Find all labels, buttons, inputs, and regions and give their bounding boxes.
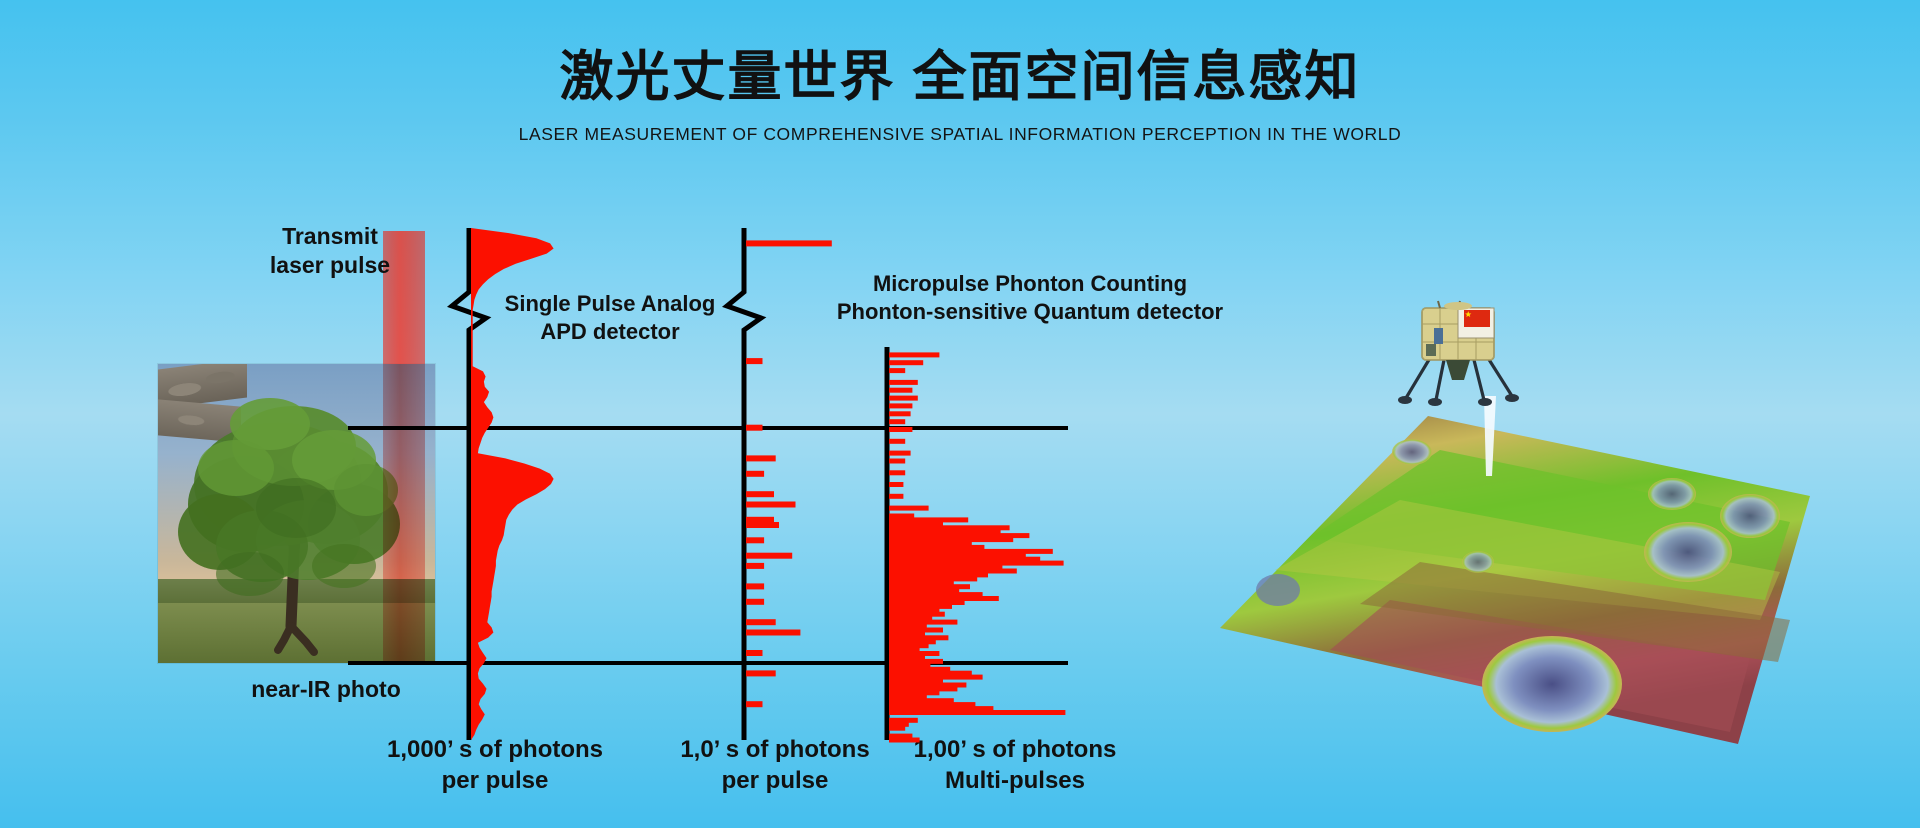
title-block: 激光丈量世界 全面空间信息感知 LASER MEASUREMENT OF COM… <box>0 46 1920 145</box>
photon-bar <box>889 419 905 424</box>
photon-bar <box>889 533 1029 538</box>
photon-bar <box>746 630 800 636</box>
photon-bar <box>889 588 959 593</box>
caption-dense: 1,00’ s of photons Multi-pulses <box>870 735 1160 796</box>
label-photo-caption: near-IR photo <box>216 675 436 704</box>
label-detector-photon: Micropulse Phonton Counting Phonton-sens… <box>820 270 1240 326</box>
photon-bar <box>889 403 912 408</box>
photon-bar <box>889 537 1013 542</box>
photon-bar <box>746 358 763 364</box>
photon-bar <box>889 580 954 585</box>
sparse-photon-bars <box>746 240 832 707</box>
photon-bar <box>889 596 999 601</box>
infographic-canvas: 激光丈量世界 全面空间信息感知 LASER MEASUREMENT OF COM… <box>0 0 1920 828</box>
photon-bar <box>889 710 1065 715</box>
photon-bar <box>889 663 930 668</box>
photon-bar <box>889 655 925 660</box>
photon-bar <box>889 545 984 550</box>
photon-bar <box>889 612 945 617</box>
label-detector-analog: Single Pulse Analog APD detector <box>470 290 750 346</box>
photon-bar <box>889 686 957 691</box>
photon-bar <box>889 569 1017 574</box>
crater-small-left <box>1392 439 1432 465</box>
photon-bar <box>889 592 983 597</box>
dense-photon-bars <box>889 352 1065 742</box>
photon-bar <box>889 647 920 652</box>
photon-bar <box>746 240 832 246</box>
photon-bar <box>889 565 1002 570</box>
photon-bar <box>889 659 943 664</box>
photon-bar <box>889 643 929 648</box>
photon-bar <box>746 599 764 605</box>
photon-bar <box>889 651 939 656</box>
photon-bar <box>746 425 763 431</box>
photon-bar <box>889 541 972 546</box>
photon-bar <box>889 690 939 695</box>
photon-bar <box>889 517 968 522</box>
photon-bar <box>889 427 912 432</box>
page-subtitle: LASER MEASUREMENT OF COMPREHENSIVE SPATI… <box>0 124 1920 145</box>
photon-bar <box>889 396 918 401</box>
photon-bar <box>889 631 925 636</box>
photon-bar <box>889 635 948 640</box>
photon-bar <box>889 388 912 393</box>
photon-bar <box>746 491 774 497</box>
photon-bar <box>889 572 988 577</box>
crater-mid <box>1462 551 1494 573</box>
photon-bar <box>889 549 1053 554</box>
photon-bar <box>889 494 903 499</box>
photon-bar <box>889 624 927 629</box>
photon-bar <box>889 360 923 365</box>
photon-bar <box>889 514 914 519</box>
photon-bar <box>889 675 983 680</box>
photon-bar <box>889 718 918 723</box>
photon-bar <box>889 702 975 707</box>
lunar-lander-icon <box>1392 300 1522 412</box>
photon-bar <box>889 529 1001 534</box>
photon-bar <box>889 557 1040 562</box>
crater-right <box>1720 494 1780 538</box>
photon-bar <box>889 459 905 464</box>
photon-bar <box>746 583 764 589</box>
photon-bar <box>746 650 763 656</box>
crater-far-left <box>1256 574 1300 606</box>
photon-bar <box>889 600 965 605</box>
photon-bar <box>889 576 977 581</box>
crater-large <box>1482 636 1622 732</box>
photon-bar <box>889 628 943 633</box>
photon-bar <box>889 698 954 703</box>
photon-bar <box>889 525 1010 530</box>
photon-bar <box>746 670 776 676</box>
photon-bar <box>889 482 903 487</box>
photon-bar <box>889 639 936 644</box>
photon-bar <box>889 620 957 625</box>
photon-bar <box>746 502 796 508</box>
photon-bar <box>746 537 764 543</box>
photon-bar <box>889 706 993 711</box>
photon-bar <box>889 553 1026 558</box>
chart-dense-photons <box>887 347 1065 743</box>
photon-bar <box>889 584 970 589</box>
photon-bar <box>889 506 929 511</box>
photon-bar <box>746 619 776 625</box>
photon-bar <box>746 522 779 528</box>
lander-engine-nozzle <box>1446 360 1470 380</box>
photon-bar <box>889 352 939 357</box>
photon-bar <box>746 701 763 707</box>
photon-bar <box>746 563 764 569</box>
photon-bar <box>889 679 943 684</box>
caption-analog: 1,000’ s of photons per pulse <box>350 735 640 796</box>
photon-bar <box>889 561 1064 566</box>
photon-bar <box>746 553 792 559</box>
photon-bar <box>889 667 950 672</box>
photon-bar <box>889 694 927 699</box>
photon-bar <box>889 411 911 416</box>
lidar-terrain-model <box>1190 300 1830 760</box>
photon-bar <box>889 671 972 676</box>
photon-bar <box>889 616 932 621</box>
photon-bar <box>746 517 774 523</box>
photon-bar <box>746 455 776 461</box>
photon-bar <box>889 726 905 731</box>
photon-bar <box>889 470 905 475</box>
label-transmit-pulse: Transmit laser pulse <box>230 222 430 281</box>
photon-bar <box>889 604 952 609</box>
crater-upper-right <box>1648 478 1696 510</box>
photon-bar <box>889 368 905 373</box>
crater-mid-right <box>1644 522 1732 582</box>
chinese-flag-icon <box>1464 310 1490 327</box>
photon-bar <box>746 471 764 477</box>
photon-bar <box>889 439 905 444</box>
page-title: 激光丈量世界 全面空间信息感知 <box>0 46 1920 108</box>
lander-instrument <box>1434 328 1443 344</box>
photon-bar <box>889 380 918 385</box>
photon-bar <box>889 451 911 456</box>
photon-bar <box>889 683 966 688</box>
photon-bar <box>889 608 939 613</box>
photon-bar <box>889 521 943 526</box>
photon-bar <box>889 722 909 727</box>
